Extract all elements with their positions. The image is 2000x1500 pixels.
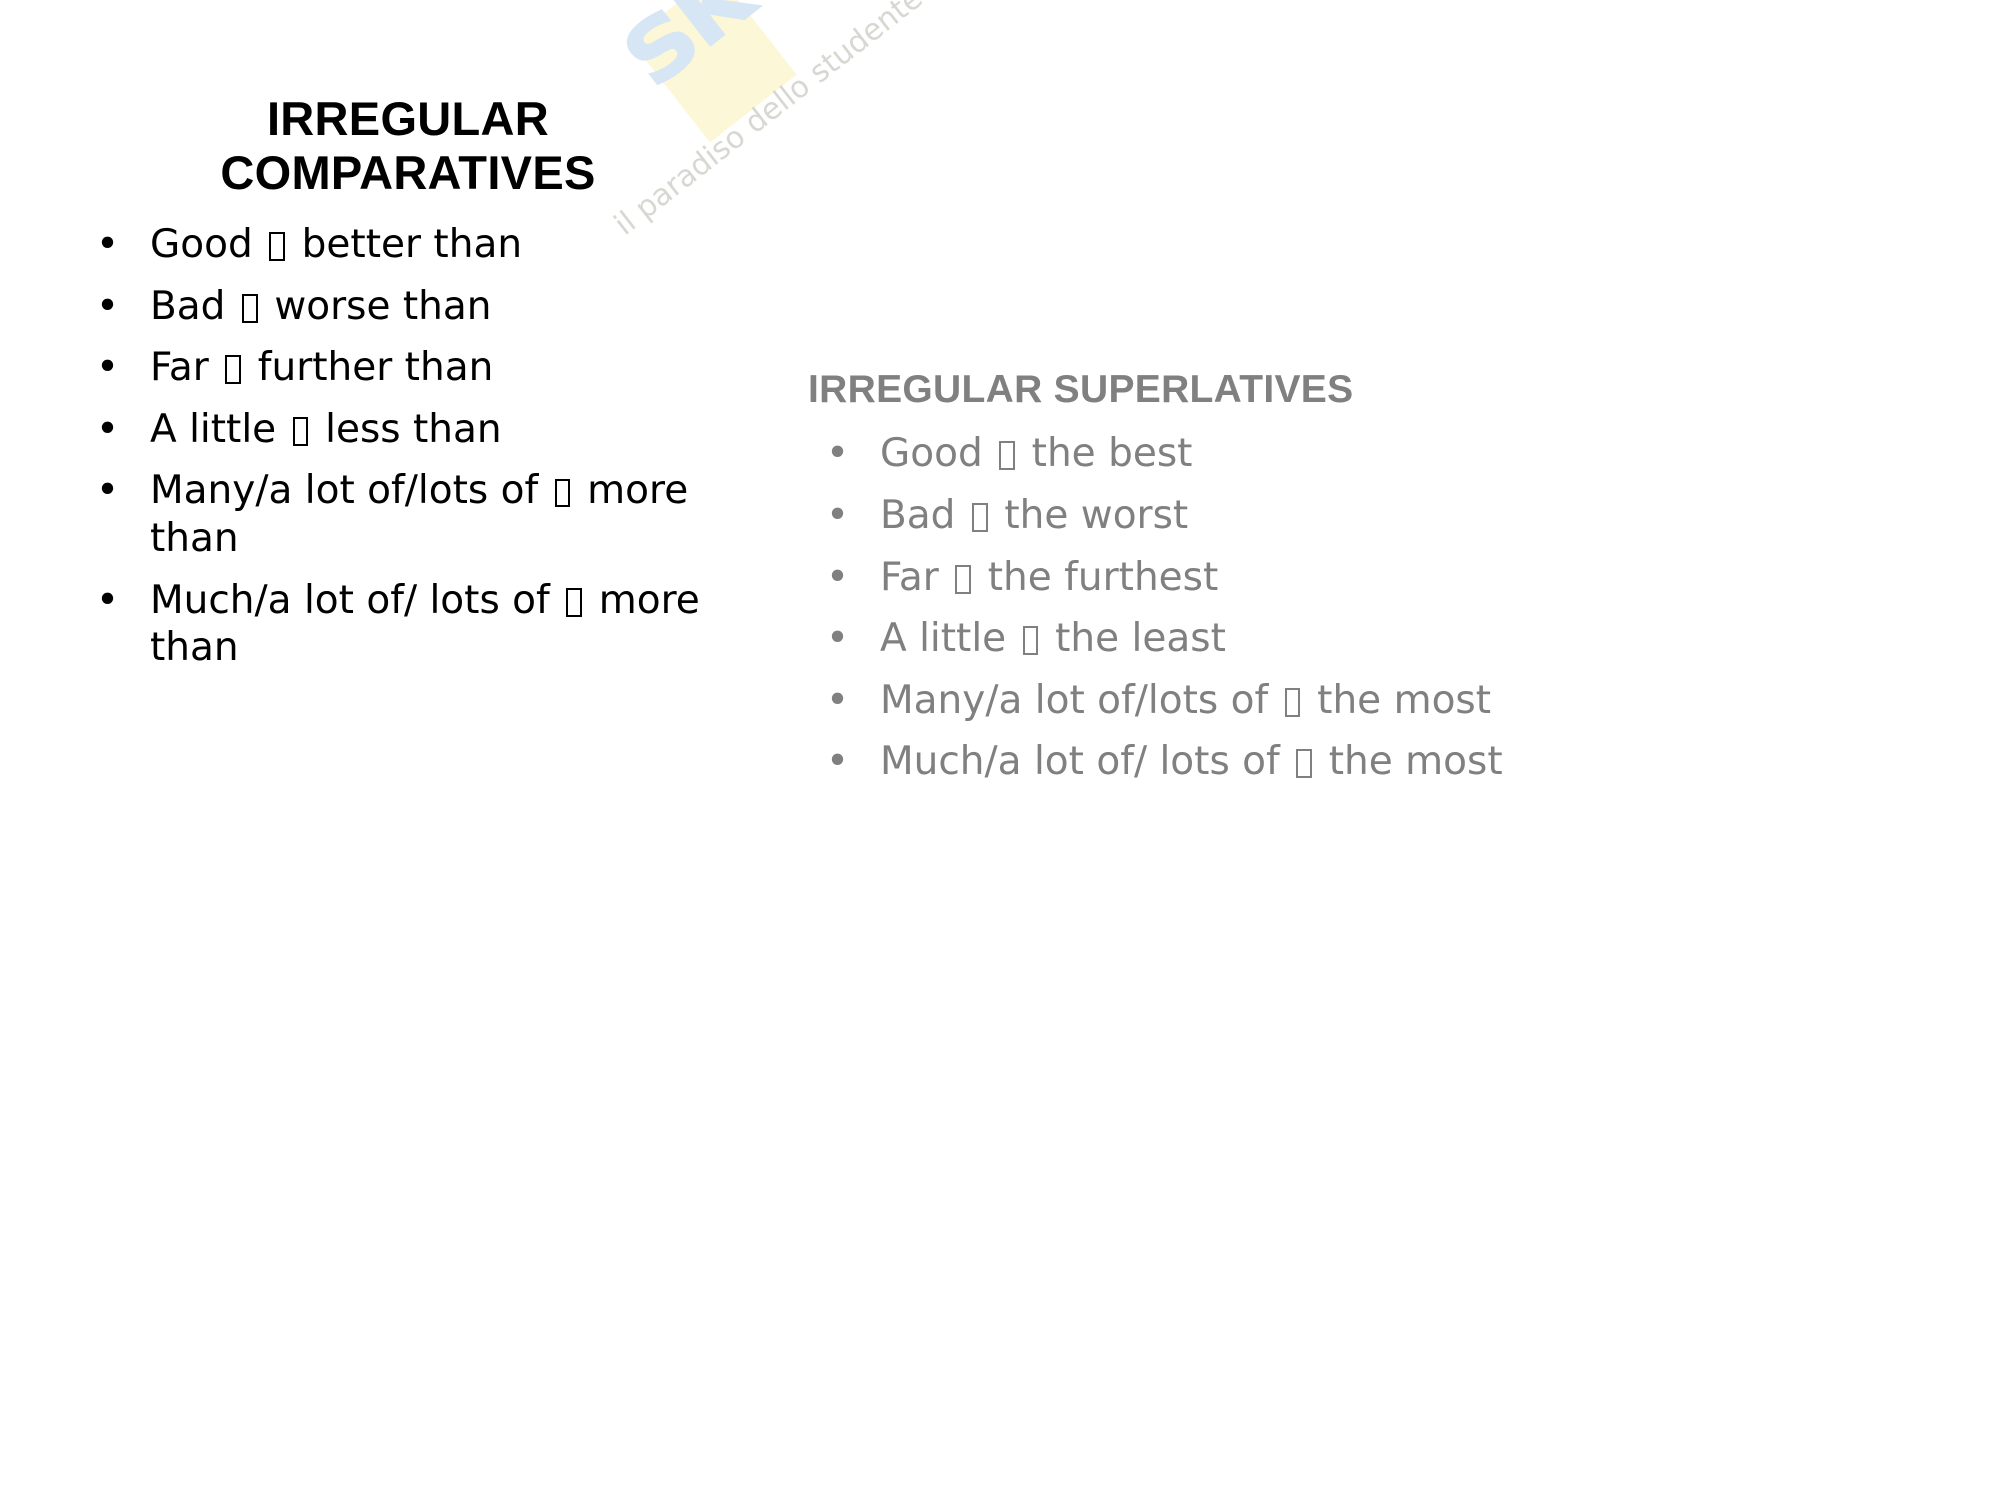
bullet-dot-icon: • [96,344,119,392]
item-result: the best [1032,431,1193,476]
item-result: the furthest [988,555,1219,600]
list-item: •Bad worse than [78,283,738,331]
bullet-dot-icon: • [96,406,119,454]
item-base: Far [150,345,209,390]
item-result: the most [1317,678,1491,723]
list-item: •Far the furthest [808,554,1508,602]
comparatives-list: •Good better than •Bad worse than •Far f… [78,221,738,672]
arrow-icon [225,355,241,384]
bullet-dot-icon: • [826,492,849,540]
item-base: Many/a lot of/lots of [880,678,1268,723]
item-base: Much/a lot of/ lots of [880,739,1280,784]
bullet-dot-icon: • [826,738,849,786]
superlatives-list: •Good the best •Bad the worst •Far the f… [808,430,1508,785]
arrow-icon [1285,688,1301,717]
superlatives-column: IRREGULAR SUPERLATIVES •Good the best •B… [808,368,1508,800]
arrow-icon [1023,626,1039,655]
arrow-icon [293,417,309,446]
bullet-dot-icon: • [826,615,849,663]
bullet-dot-icon: • [96,577,119,625]
bullet-dot-icon: • [96,221,119,269]
item-base: A little [880,616,1006,661]
page-title: IRREGULAR COMPARATIVES [78,92,738,199]
item-base: Good [880,431,983,476]
arrow-icon [555,479,571,508]
arrow-icon [1296,749,1312,778]
bullet-dot-icon: • [826,554,849,602]
bullet-dot-icon: • [826,430,849,478]
arrow-icon [242,294,258,323]
item-result: further than [258,345,494,390]
bullet-dot-icon: • [96,283,119,331]
comparatives-column: IRREGULAR COMPARATIVES •Good better than… [78,92,738,686]
item-result: the least [1055,616,1226,661]
list-item: •A little the least [808,615,1508,663]
item-result: the most [1329,739,1503,784]
section-title: IRREGULAR SUPERLATIVES [808,368,1508,412]
list-item: •Many/a lot of/lots of the most [808,677,1508,725]
bullet-dot-icon: • [826,677,849,725]
item-result: better than [302,222,522,267]
item-base: Bad [150,284,225,329]
item-base: A little [150,407,276,452]
item-base: Many/a lot of/lots of [150,468,538,513]
item-base: Far [880,555,939,600]
item-base: Much/a lot of/ lots of [150,578,550,623]
list-item: •Good better than [78,221,738,269]
item-base: Good [150,222,253,267]
list-item: •Many/a lot of/lots of more than [78,467,738,562]
arrow-icon [566,588,582,617]
item-base: Bad [880,493,955,538]
arrow-icon [972,503,988,532]
bullet-dot-icon: • [96,467,119,515]
list-item: •A little less than [78,406,738,454]
arrow-icon [999,441,1015,470]
item-result: less than [325,407,502,452]
list-item: •Much/a lot of/ lots of the most [808,738,1508,786]
list-item: •Much/a lot of/ lots of more than [78,577,738,672]
arrow-icon [269,232,285,261]
item-result: worse than [274,284,491,329]
arrow-icon [955,565,971,594]
list-item: •Far further than [78,344,738,392]
list-item: •Good the best [808,430,1508,478]
list-item: •Bad the worst [808,492,1508,540]
slide-canvas: skuola.net il paradiso dello studente IR… [0,0,2000,1500]
item-result: the worst [1004,493,1188,538]
